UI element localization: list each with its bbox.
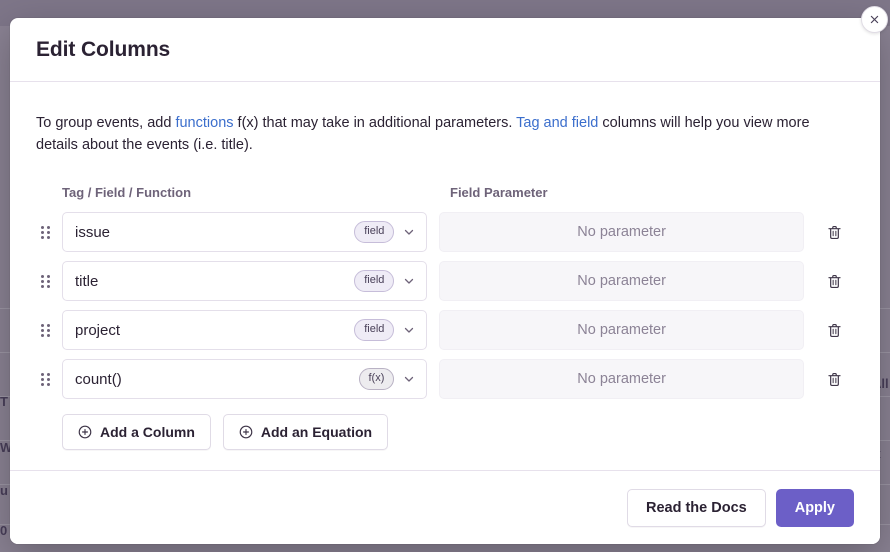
chevron-down-icon [400,275,418,287]
add-equation-label: Add an Equation [261,424,372,440]
table-row: project field No parameter [36,306,854,355]
column-value-0: issue [75,224,354,241]
kind-badge-field: field [354,221,394,243]
column-value-2: project [75,322,354,339]
add-equation-button[interactable]: Add an Equation [223,414,388,450]
field-parameter-placeholder: No parameter [577,224,666,240]
column-select-0[interactable]: issue field [62,212,427,252]
column-select-3[interactable]: count() f(x) [62,359,427,399]
background-text-fragment: u [0,483,8,498]
add-column-button[interactable]: Add a Column [62,414,211,450]
modal-header: Edit Columns [10,18,880,82]
field-parameter-1: No parameter [439,261,803,301]
close-button[interactable] [861,6,888,33]
tag-and-field-link[interactable]: Tag and field [516,115,598,131]
column-rows: issue field No parameter [36,208,854,404]
plus-circle-icon [78,425,92,439]
table-row: issue field No parameter [36,208,854,257]
trash-icon [826,322,843,339]
add-column-label: Add a Column [100,424,195,440]
close-icon [869,14,880,25]
delete-row-button-1[interactable] [816,273,854,290]
field-parameter-placeholder: No parameter [577,273,666,289]
trash-icon [826,273,843,290]
column-header-tag-field-function: Tag / Field / Function [62,185,450,200]
table-row: count() f(x) No parameter [36,355,854,404]
kind-badge-field: field [354,319,394,341]
field-parameter-placeholder: No parameter [577,322,666,338]
page-title: Edit Columns [36,38,170,62]
read-the-docs-button[interactable]: Read the Docs [627,489,766,527]
background-text-fragment: T [0,394,8,409]
field-parameter-0: No parameter [439,212,803,252]
drag-handle-icon[interactable] [36,373,62,386]
column-select-1[interactable]: title field [62,261,427,301]
edit-columns-modal: Edit Columns To group events, add functi… [10,18,880,544]
column-header-field-parameter: Field Parameter [450,185,840,200]
field-parameter-3: No parameter [439,359,803,399]
chevron-down-icon [400,373,418,385]
drag-handle-icon[interactable] [36,324,62,337]
chevron-down-icon [400,226,418,238]
column-headers: Tag / Field / Function Field Parameter [36,185,854,200]
drag-handle-icon[interactable] [36,226,62,239]
delete-row-button-0[interactable] [816,224,854,241]
functions-link[interactable]: functions [175,115,233,131]
plus-circle-icon [239,425,253,439]
description-text-2: f(x) that may take in additional paramet… [234,115,517,131]
field-parameter-2: No parameter [439,310,803,350]
column-value-1: title [75,273,354,290]
trash-icon [826,224,843,241]
trash-icon [826,371,843,388]
chevron-down-icon [400,324,418,336]
modal-description: To group events, add functions f(x) that… [36,112,836,157]
drag-handle-icon[interactable] [36,275,62,288]
column-value-3: count() [75,371,359,388]
description-text-1: To group events, add [36,115,175,131]
kind-badge-fx: f(x) [359,368,395,390]
table-row: title field No parameter [36,257,854,306]
modal-footer: Read the Docs Apply [10,470,880,544]
column-select-2[interactable]: project field [62,310,427,350]
background-text-fragment: 0 [0,523,7,538]
field-parameter-placeholder: No parameter [577,371,666,387]
modal-body: To group events, add functions f(x) that… [10,82,880,480]
apply-button[interactable]: Apply [776,489,854,527]
kind-badge-field: field [354,270,394,292]
delete-row-button-2[interactable] [816,322,854,339]
delete-row-button-3[interactable] [816,371,854,388]
